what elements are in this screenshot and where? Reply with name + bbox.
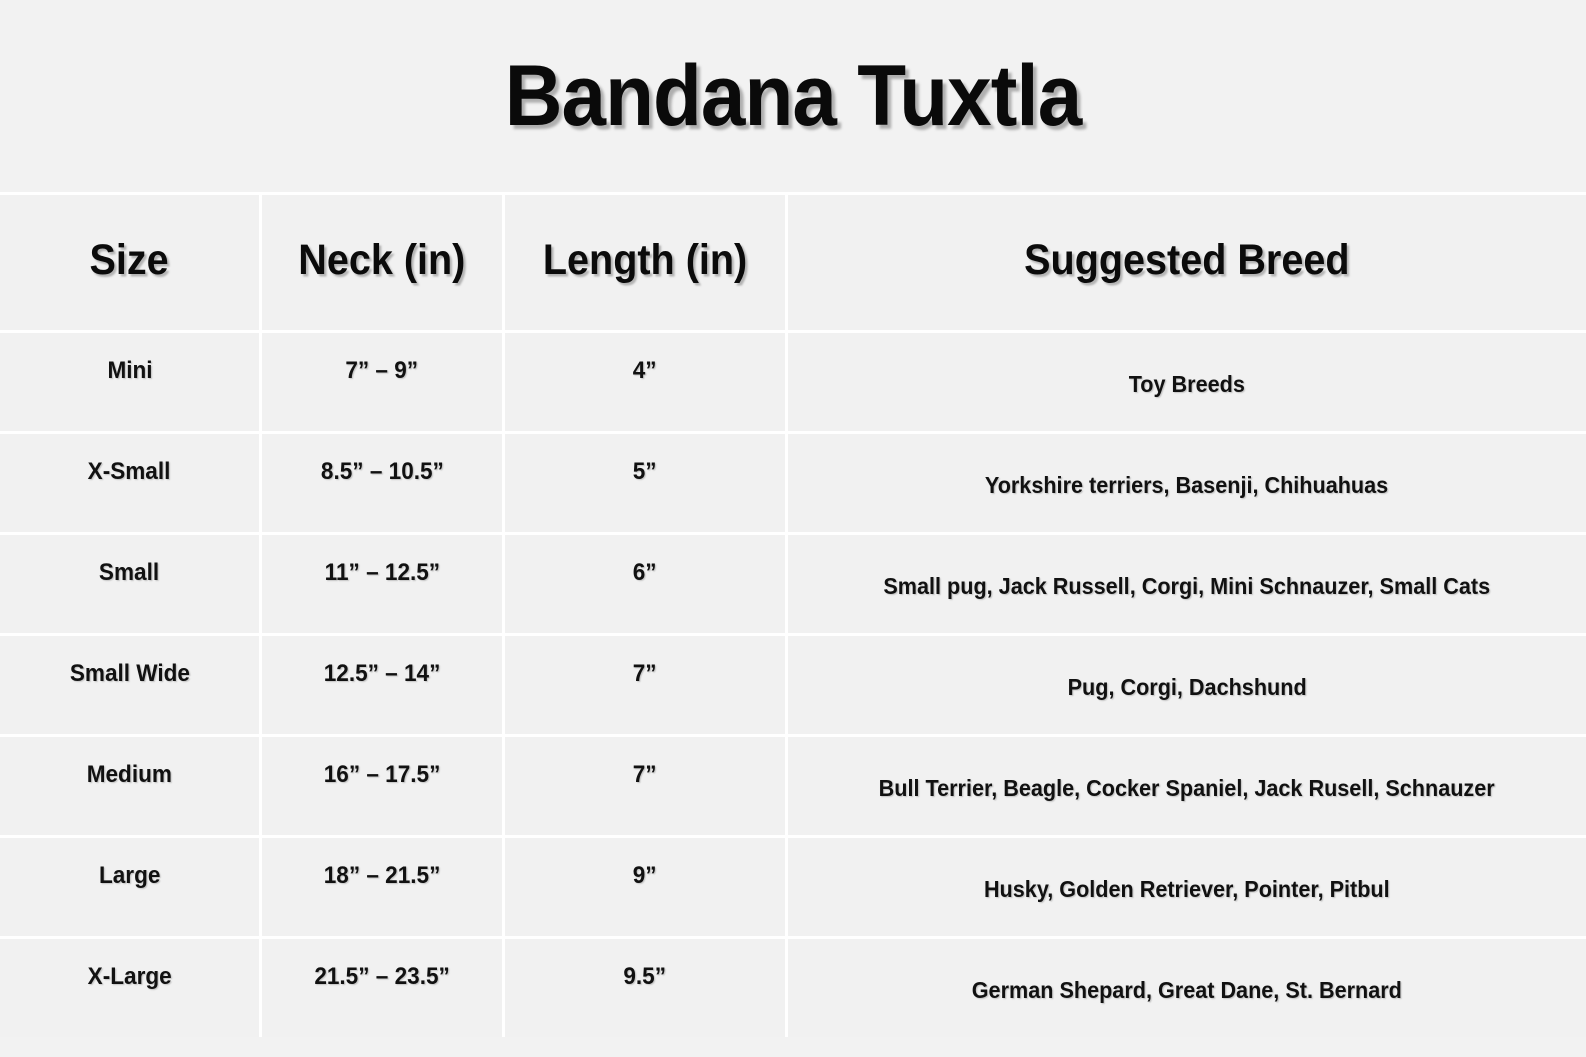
cell-neck-value: 21.5” – 23.5” [314, 965, 449, 989]
cell-neck: 12.5” – 14” [262, 636, 505, 734]
cell-size-value: Medium [87, 763, 172, 787]
cell-length-value: 6” [633, 561, 657, 585]
cell-size-value: Small [99, 561, 159, 585]
cell-size: Mini [0, 333, 262, 431]
table-row: Mini 7” – 9” 4” Toy Breeds [0, 330, 1586, 431]
cell-length: 9” [505, 838, 788, 936]
cell-breed-value: Pug, Corgi, Dachshund [1067, 676, 1306, 699]
cell-length: 7” [505, 636, 788, 734]
cell-breed: Husky, Golden Retriever, Pointer, Pitbul [788, 838, 1586, 936]
cell-breed-value: Bull Terrier, Beagle, Cocker Spaniel, Ja… [879, 777, 1495, 800]
column-header-neck-label: Neck (in) [298, 239, 465, 286]
cell-size: Small [0, 535, 262, 633]
cell-breed-value: German Shepard, Great Dane, St. Bernard [972, 979, 1402, 1002]
cell-neck-value: 7” – 9” [346, 359, 419, 383]
table-header-row: Size Neck (in) Length (in) Suggested Bre… [0, 192, 1586, 330]
size-chart-table: Size Neck (in) Length (in) Suggested Bre… [0, 192, 1586, 1057]
column-header-length: Length (in) [505, 195, 788, 330]
cell-length-value: 7” [633, 662, 657, 686]
cell-length: 6” [505, 535, 788, 633]
cell-neck-value: 8.5” – 10.5” [321, 460, 444, 484]
table-row: X-Small 8.5” – 10.5” 5” Yorkshire terrie… [0, 431, 1586, 532]
cell-breed: Toy Breeds [788, 333, 1586, 431]
column-header-breed: Suggested Breed [788, 195, 1586, 330]
table-row: Large 18” – 21.5” 9” Husky, Golden Retri… [0, 835, 1586, 936]
cell-breed: Bull Terrier, Beagle, Cocker Spaniel, Ja… [788, 737, 1586, 835]
cell-breed: Pug, Corgi, Dachshund [788, 636, 1586, 734]
cell-size-value: Small Wide [69, 662, 189, 686]
cell-breed-value: Toy Breeds [1129, 373, 1245, 396]
cell-neck: 7” – 9” [262, 333, 505, 431]
cell-neck: 21.5” – 23.5” [262, 939, 505, 1037]
column-header-size-label: Size [90, 239, 169, 286]
cell-neck: 11” – 12.5” [262, 535, 505, 633]
cell-size: X-Small [0, 434, 262, 532]
cell-breed-value: Husky, Golden Retriever, Pointer, Pitbul [984, 878, 1390, 901]
cell-breed-value: Small pug, Jack Russell, Corgi, Mini Sch… [884, 575, 1491, 598]
table-row: X-Large 21.5” – 23.5” 9.5” German Shepar… [0, 936, 1586, 1037]
size-chart-page: Bandana Tuxtla Size Neck (in) Length (in… [0, 0, 1586, 1057]
cell-size-value: Large [99, 864, 160, 888]
cell-neck-value: 16” – 17.5” [324, 763, 441, 787]
cell-length-value: 4” [633, 359, 657, 383]
cell-neck: 18” – 21.5” [262, 838, 505, 936]
cell-size: Medium [0, 737, 262, 835]
cell-neck: 8.5” – 10.5” [262, 434, 505, 532]
cell-length-value: 7” [633, 763, 657, 787]
cell-length-value: 9.5” [624, 965, 667, 989]
table-row: Medium 16” – 17.5” 7” Bull Terrier, Beag… [0, 734, 1586, 835]
table-row: Small Wide 12.5” – 14” 7” Pug, Corgi, Da… [0, 633, 1586, 734]
table-row: Small 11” – 12.5” 6” Small pug, Jack Rus… [0, 532, 1586, 633]
cell-neck-value: 12.5” – 14” [324, 662, 441, 686]
cell-breed: Yorkshire terriers, Basenji, Chihuahuas [788, 434, 1586, 532]
cell-breed: German Shepard, Great Dane, St. Bernard [788, 939, 1586, 1037]
cell-neck: 16” – 17.5” [262, 737, 505, 835]
cell-size: Large [0, 838, 262, 936]
cell-size-value: Mini [107, 359, 152, 383]
cell-length: 7” [505, 737, 788, 835]
cell-size-value: X-Small [88, 460, 171, 484]
cell-size-value: X-Large [87, 965, 171, 989]
cell-neck-value: 11” – 12.5” [324, 561, 439, 585]
cell-neck-value: 18” – 21.5” [324, 864, 441, 888]
cell-length: 4” [505, 333, 788, 431]
page-title: Bandana Tuxtla [505, 53, 1082, 139]
cell-length: 5” [505, 434, 788, 532]
title-area: Bandana Tuxtla [0, 0, 1586, 192]
column-header-length-label: Length (in) [543, 239, 747, 286]
column-header-size: Size [0, 195, 262, 330]
cell-size: Small Wide [0, 636, 262, 734]
cell-length: 9.5” [505, 939, 788, 1037]
cell-breed: Small pug, Jack Russell, Corgi, Mini Sch… [788, 535, 1586, 633]
column-header-breed-label: Suggested Breed [1024, 239, 1349, 286]
cell-length-value: 9” [633, 864, 657, 888]
cell-breed-value: Yorkshire terriers, Basenji, Chihuahuas [985, 474, 1388, 497]
cell-size: X-Large [0, 939, 262, 1037]
cell-length-value: 5” [633, 460, 657, 484]
column-header-neck: Neck (in) [262, 195, 505, 330]
